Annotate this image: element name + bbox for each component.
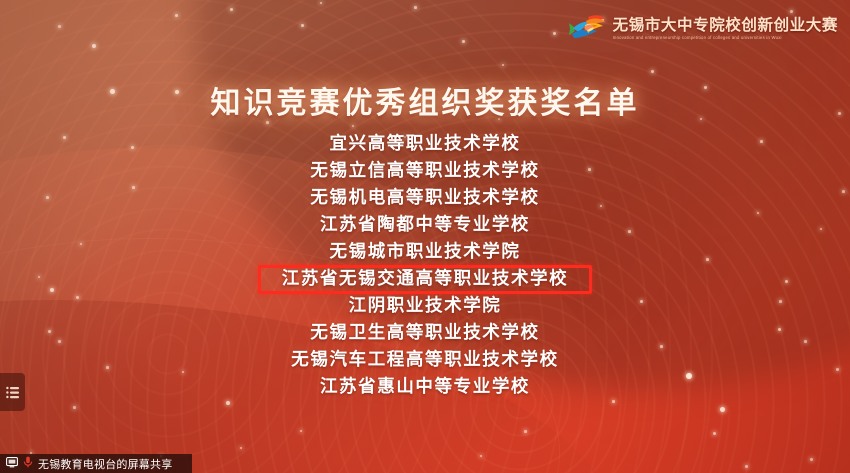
award-list-item: 宜兴高等职业技术学校	[0, 130, 850, 157]
award-winner-list: 宜兴高等职业技术学校无锡立信高等职业技术学校无锡机电高等职业技术学校江苏省陶都中…	[0, 130, 850, 400]
panel-toggle-button[interactable]	[0, 373, 25, 411]
logo-title-cn: 无锡市大中专院校创新创业大赛	[613, 18, 838, 34]
shared-screen-presentation: 无锡市大中专院校创新创业大赛 Innovation and entreprene…	[0, 0, 850, 473]
award-list-item: 无锡机电高等职业技术学校	[0, 184, 850, 211]
list-menu-icon	[6, 386, 20, 399]
award-list-item: 无锡城市职业技术学院	[0, 238, 850, 265]
award-list-item: 无锡卫生高等职业技术学校	[0, 319, 850, 346]
star-particle	[810, 458, 813, 461]
star-particle	[230, 8, 233, 11]
star-particle	[226, 401, 230, 405]
award-list-item: 江阴职业技术学院	[0, 292, 850, 319]
star-particle	[524, 430, 527, 433]
award-list-item: 无锡汽车工程高等职业技术学校	[0, 346, 850, 373]
logo-title-en: Innovation and entrepreneurship competit…	[613, 36, 838, 40]
microphone-icon	[23, 455, 33, 473]
star-particle	[301, 24, 304, 27]
slide-headline: 知识竞赛优秀组织奖获奖名单	[0, 78, 850, 122]
event-logo: 无锡市大中专院校创新创业大赛 Innovation and entreprene…	[568, 12, 838, 46]
star-particle	[553, 32, 556, 35]
star-particle	[73, 406, 76, 409]
award-list-item: 江苏省陶都中等专业学校	[0, 211, 850, 238]
star-particle	[58, 25, 61, 28]
star-particle	[651, 70, 654, 73]
screen-share-status-bar: 无锡教育电视台的屏幕共享	[0, 454, 192, 473]
award-list-item: 江苏省无锡交通高等职业技术学校	[0, 265, 850, 292]
star-particle	[462, 40, 465, 43]
award-list-item: 江苏省惠山中等专业学校	[0, 373, 850, 400]
wuxi-competition-emblem-icon	[568, 12, 606, 46]
star-particle	[612, 400, 615, 403]
star-particle	[414, 6, 417, 9]
award-list-item: 无锡立信高等职业技术学校	[0, 157, 850, 184]
share-status-label: 无锡教育电视台的屏幕共享	[38, 456, 172, 472]
monitor-share-icon	[6, 455, 18, 473]
